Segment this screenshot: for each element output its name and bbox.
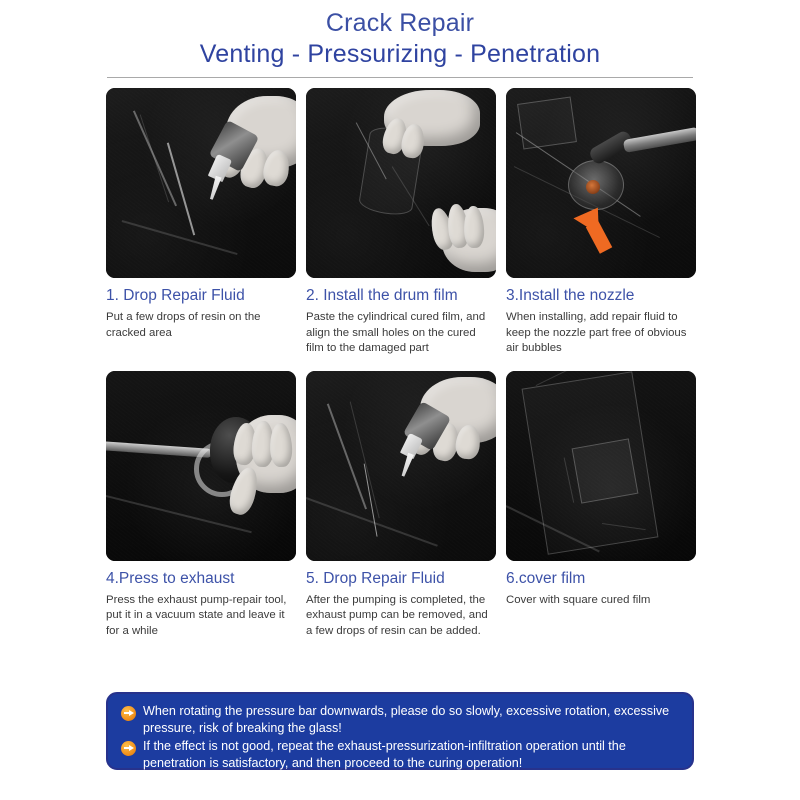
warning-note-text-2: If the effect is not good, repeat the ex… [143, 738, 678, 771]
warning-notes-box: When rotating the pressure bar downwards… [106, 692, 694, 770]
warning-note-row: When rotating the pressure bar downwards… [121, 703, 678, 736]
arrow-bullet-icon [121, 741, 136, 756]
step-card-6: 6.cover film Cover with square cured fil… [506, 371, 702, 640]
steps-grid: 1. Drop Repair Fluid Put a few drops of … [106, 88, 700, 639]
step-title-5: 5. Drop Repair Fluid [306, 570, 502, 588]
step-description-1: Put a few drops of resin on the cracked … [106, 310, 296, 341]
step-description-5: After the pumping is completed, the exha… [306, 593, 496, 640]
step-photo-2 [306, 88, 496, 278]
step-photo-3 [506, 88, 696, 278]
cured-film-icon [517, 96, 577, 149]
nozzle-center-icon [586, 180, 600, 194]
step-photo-6 [506, 371, 696, 561]
step-description-3: When installing, add repair fluid to kee… [506, 310, 696, 357]
step-photo-4 [106, 371, 296, 561]
step-description-6: Cover with square cured film [506, 593, 696, 609]
header-divider [107, 77, 693, 78]
step-description-4: Press the exhaust pump-repair tool, put … [106, 593, 296, 640]
step-card-5: 5. Drop Repair Fluid After the pumping i… [306, 371, 502, 640]
warning-note-row: If the effect is not good, repeat the ex… [121, 738, 678, 771]
page-header: Crack Repair Venting - Pressurizing - Pe… [0, 0, 800, 78]
step-card-4: 4.Press to exhaust Press the exhaust pum… [106, 371, 302, 640]
step-title-2: 2. Install the drum film [306, 287, 502, 305]
page-title-secondary: Venting - Pressurizing - Penetration [0, 38, 800, 70]
warning-note-text-1: When rotating the pressure bar downwards… [143, 703, 678, 736]
step-card-1: 1. Drop Repair Fluid Put a few drops of … [106, 88, 302, 357]
step-photo-5 [306, 371, 496, 561]
step-title-1: 1. Drop Repair Fluid [106, 287, 302, 305]
step-title-6: 6.cover film [506, 570, 702, 588]
step-card-2: 2. Install the drum film Paste the cylin… [306, 88, 502, 357]
step-description-2: Paste the cylindrical cured film, and al… [306, 310, 496, 357]
step-title-3: 3.Install the nozzle [506, 287, 702, 305]
step-title-4: 4.Press to exhaust [106, 570, 302, 588]
infographic-page: Crack Repair Venting - Pressurizing - Pe… [0, 0, 800, 800]
step-card-3: 3.Install the nozzle When installing, ad… [506, 88, 702, 357]
arrow-bullet-icon [121, 706, 136, 721]
page-title-primary: Crack Repair [0, 8, 800, 38]
square-cured-film-icon [572, 438, 639, 503]
step-photo-1 [106, 88, 296, 278]
